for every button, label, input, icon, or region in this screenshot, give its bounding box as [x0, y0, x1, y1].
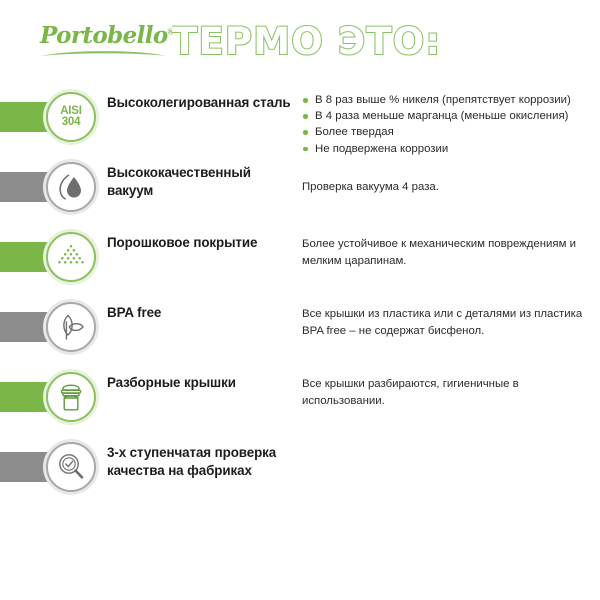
portobello-logo: Portobello® — [40, 24, 170, 64]
feature-label: Высококачественный вакуум — [107, 164, 297, 200]
feature-description: Все крышки из пластика или с деталями из… — [302, 306, 598, 340]
feature-label: Порошковое покрытие — [107, 234, 297, 252]
feature-description: Все крышки разбираются, гигиеничные в ис… — [302, 376, 598, 410]
aisi-304-badge-icon: AISI 304 — [46, 92, 96, 142]
list-item: Не подвержена коррозии — [302, 141, 598, 157]
logo-wordmark-text: Portobello — [40, 22, 168, 49]
feature-row: Порошковое покрытие Более устойчивое к м… — [0, 228, 600, 298]
feature-description: Проверка вакуума 4 раза. — [302, 179, 598, 196]
list-item: В 4 раза меньше марганца (меньше окислен… — [302, 108, 598, 124]
feature-row: Разборные крышки Все крышки разбираются,… — [0, 368, 600, 438]
header: Portobello® ТЕРМО ЭТО: — [0, 0, 600, 82]
feature-label: Разборные крышки — [107, 374, 297, 392]
water-droplet-icon — [46, 162, 96, 212]
feature-label: Высоколегированная сталь — [107, 94, 297, 112]
magnifier-check-icon — [46, 442, 96, 492]
page-title-outline-text: ТЕРМО ЭТО: — [172, 18, 472, 66]
logo-wordmark: Portobello® — [40, 24, 170, 47]
svg-text:ТЕРМО ЭТО:: ТЕРМО ЭТО: — [172, 20, 441, 63]
feature-rows: AISI 304 Высоколегированная сталь В 8 ра… — [0, 88, 600, 508]
aisi-badge-text: AISI 304 — [60, 106, 82, 129]
feature-label: 3-х ступенчатая проверка качества на фаб… — [107, 444, 297, 480]
feature-row: 3-х ступенчатая проверка качества на фаб… — [0, 438, 600, 508]
page-title: ТЕРМО ЭТО: — [172, 18, 472, 66]
magnifier-check-glyph — [55, 451, 87, 483]
water-droplet-glyph — [56, 172, 86, 202]
list-item: В 8 раз выше % никеля (препятствует корр… — [302, 92, 598, 108]
feature-row: Высококачественный вакуум Проверка вакуу… — [0, 158, 600, 228]
feature-row: AISI 304 Высоколегированная сталь В 8 ра… — [0, 88, 600, 158]
logo-swoosh-icon — [40, 48, 168, 58]
detachable-lid-icon — [46, 372, 96, 422]
feature-bullet-list: В 8 раз выше % никеля (препятствует корр… — [302, 92, 598, 157]
feature-label: BPA free — [107, 304, 297, 322]
powder-dots-triangle-icon — [46, 232, 96, 282]
infographic-page: Portobello® ТЕРМО ЭТО: AISI 304 Высоколе… — [0, 0, 600, 600]
powder-dots-glyph — [56, 243, 86, 271]
feature-row: BPA free Все крышки из пластика или с де… — [0, 298, 600, 368]
leaf-icon — [46, 302, 96, 352]
list-item: Более твердая — [302, 124, 598, 140]
aisi-badge-line2: 304 — [60, 117, 82, 129]
leaf-glyph — [55, 312, 87, 342]
detachable-lid-glyph — [55, 382, 87, 412]
feature-description: Более устойчивое к механическим поврежде… — [302, 236, 598, 270]
